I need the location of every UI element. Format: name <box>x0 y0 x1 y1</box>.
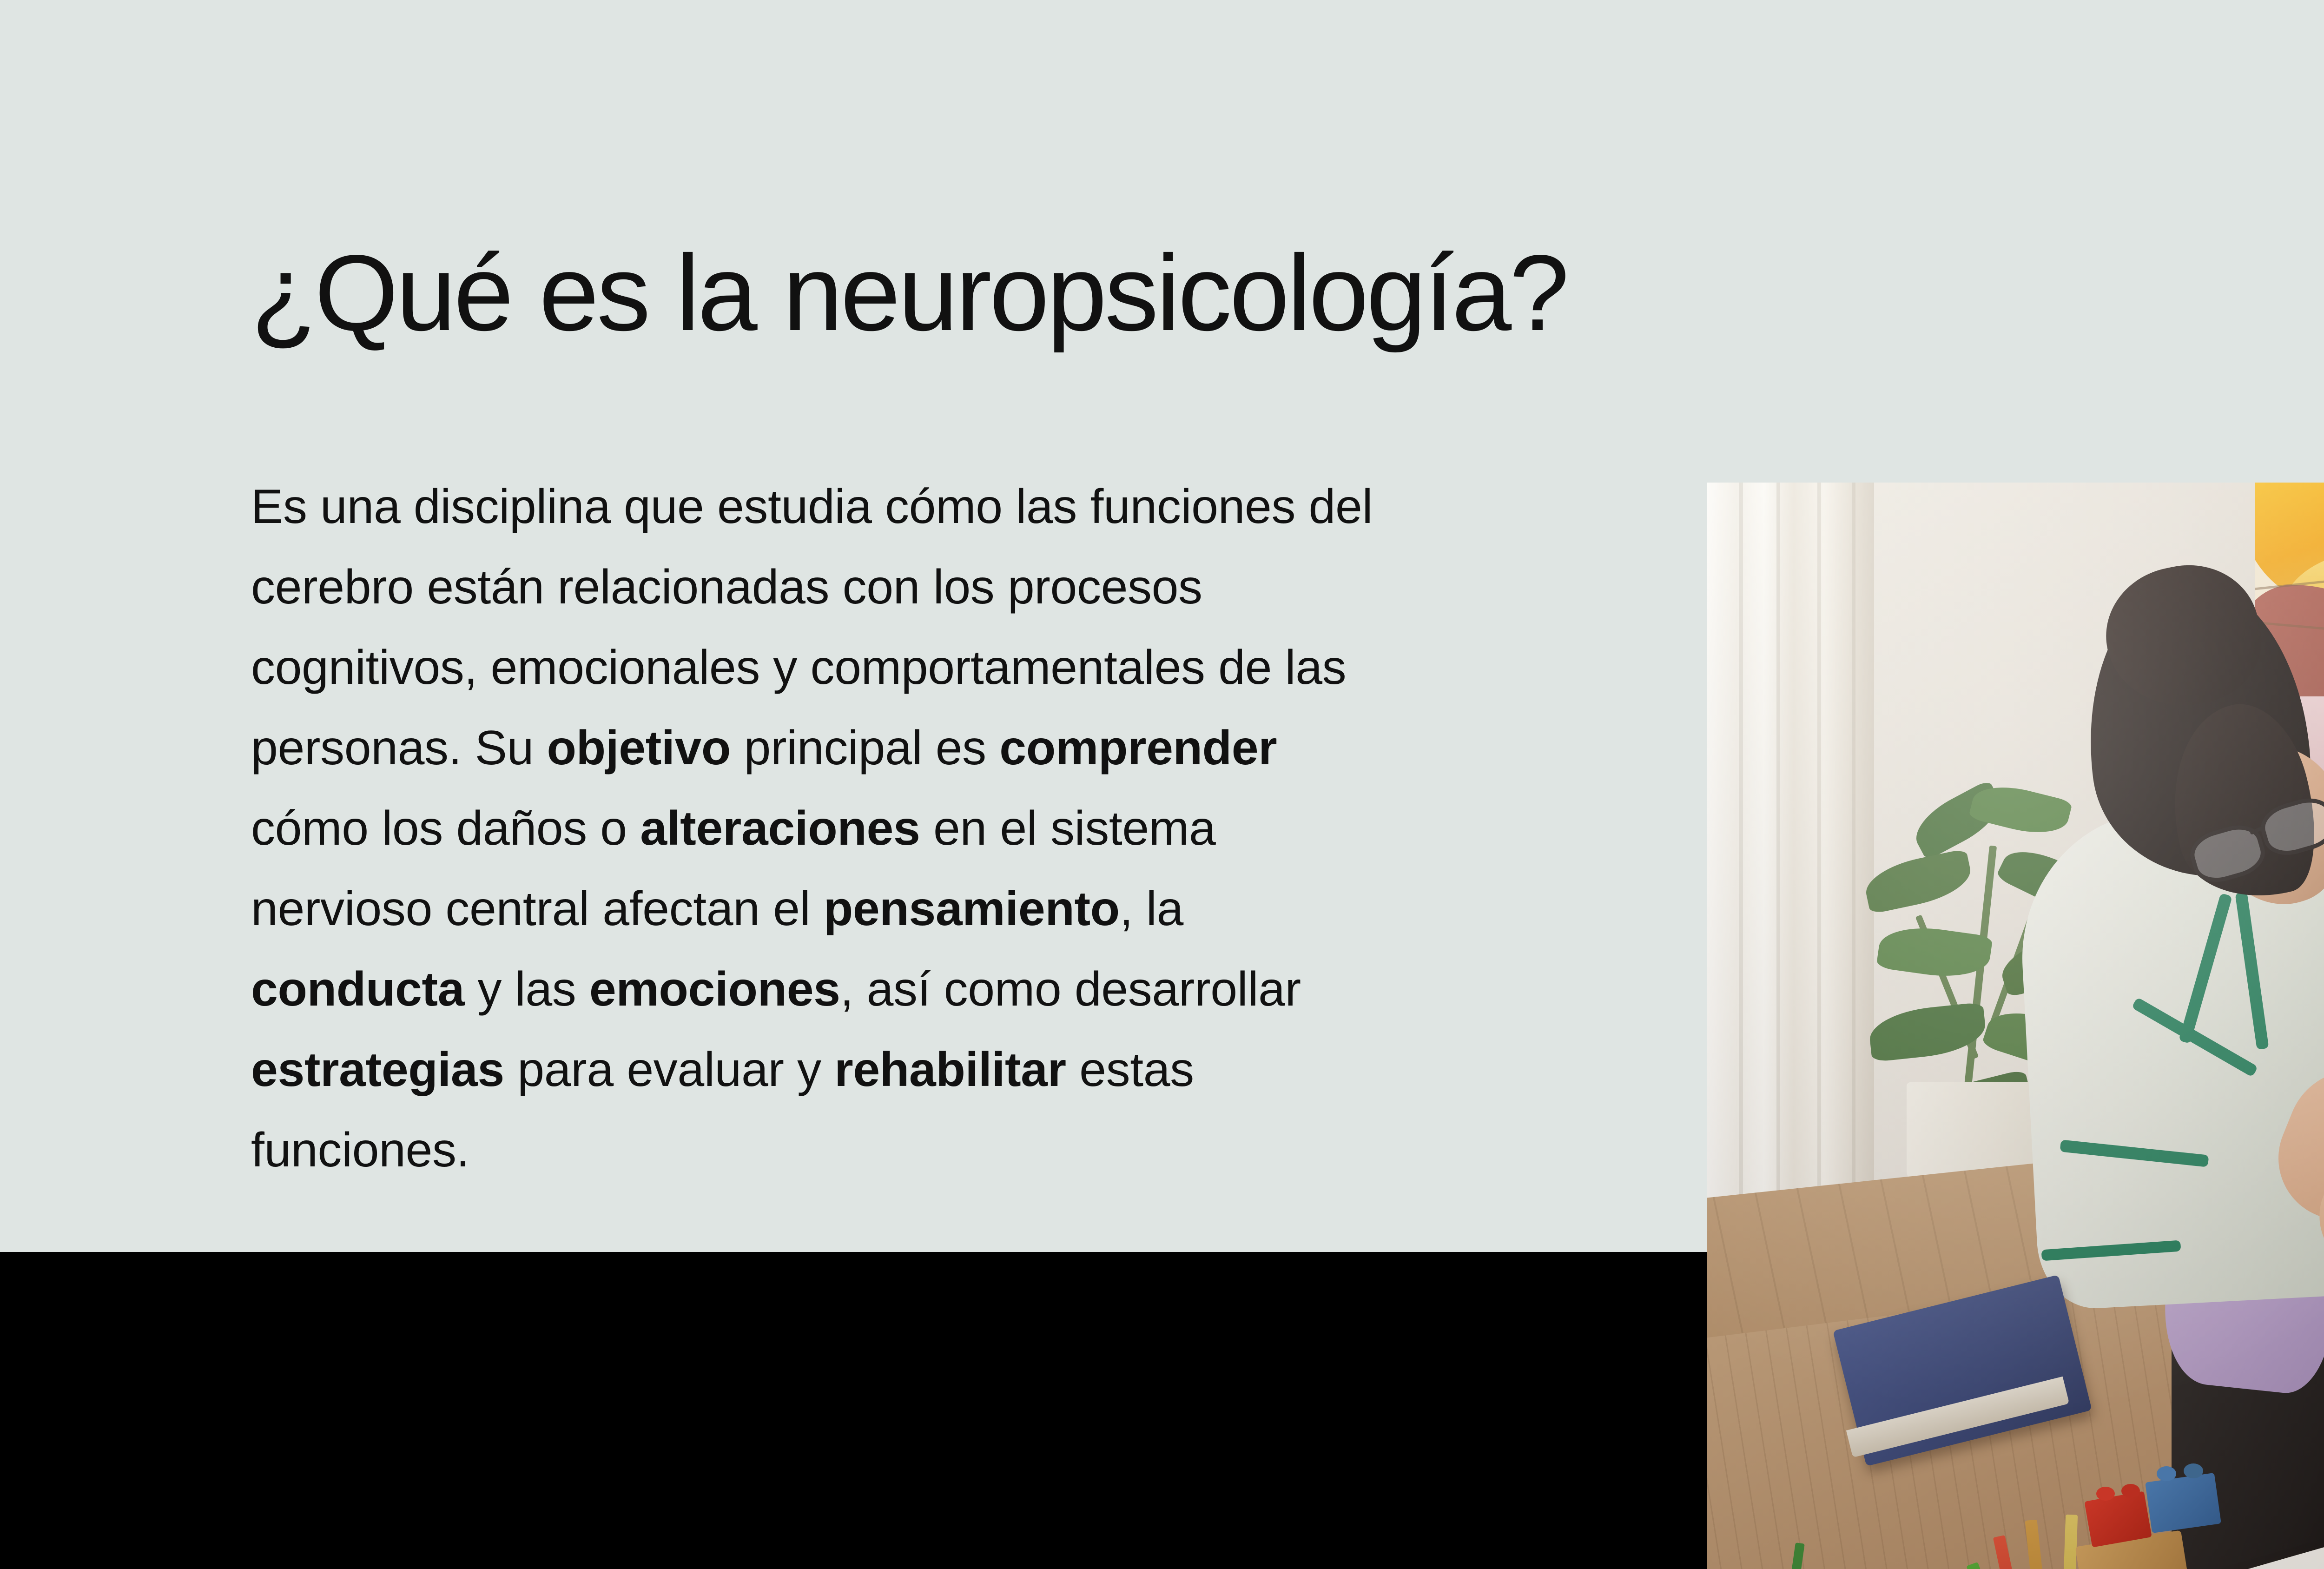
slide-canvas: ¿Qué es la neuropsicología? Es una disci… <box>0 0 2324 1569</box>
black-band-bottom <box>0 1252 1707 1569</box>
lego-blue <box>2145 1473 2221 1533</box>
body-paragraph: Es una disciplina que estudia cómo las f… <box>251 467 1404 1191</box>
therapy-session-photo <box>1707 483 2324 1569</box>
page-title: ¿Qué es la neuropsicología? <box>251 239 1567 347</box>
wooden-rod-toy <box>1721 1543 1860 1569</box>
